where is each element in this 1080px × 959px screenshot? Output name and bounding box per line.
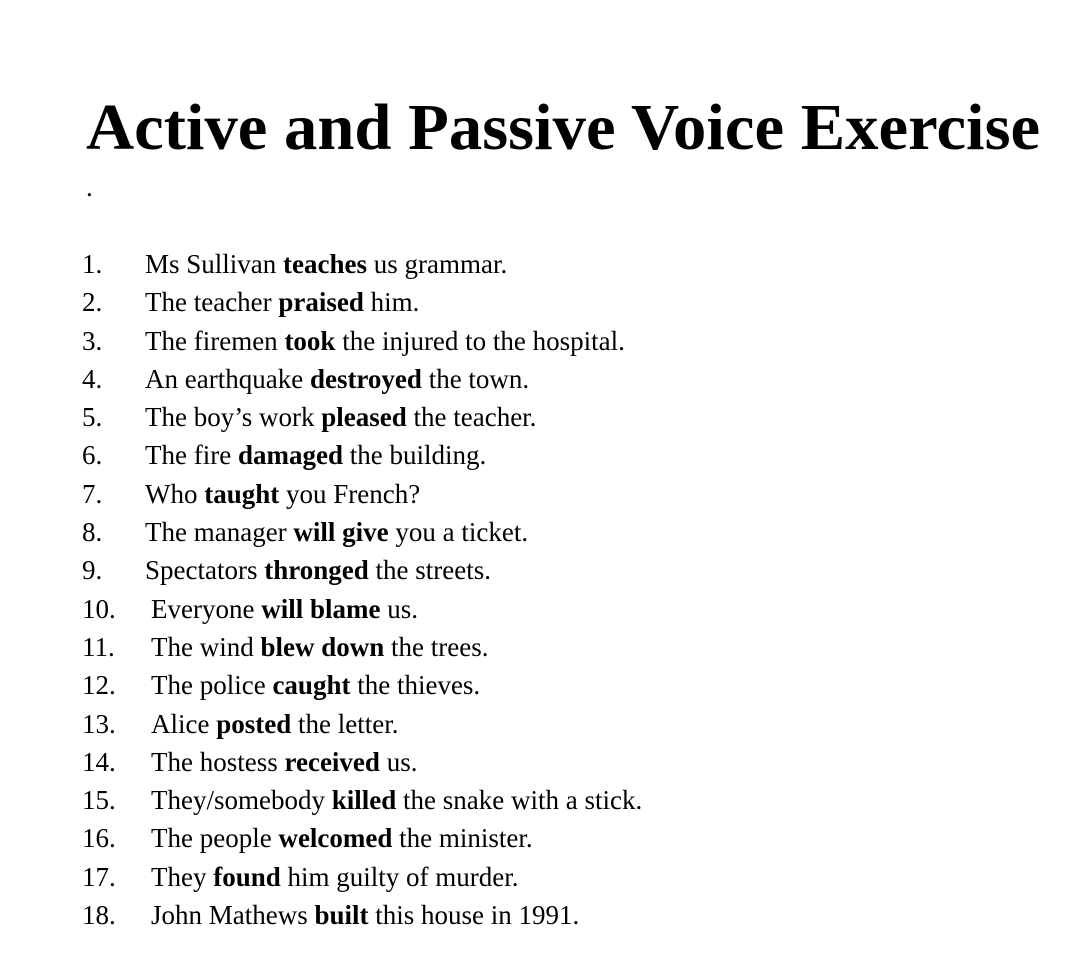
list-item-text: The boy’s work pleased the teacher.	[145, 398, 536, 436]
list-item-number: 10.	[82, 590, 151, 628]
sentence-verb: damaged	[238, 440, 343, 470]
list-item: 13.Alice posted the letter.	[82, 705, 1042, 743]
list-item-number: 8.	[82, 513, 145, 551]
list-item-text: The hostess received us.	[151, 743, 417, 781]
exercise-list: 1.Ms Sullivan teaches us grammar.2.The t…	[82, 245, 1042, 934]
sentence-verb: built	[315, 900, 369, 930]
sentence-verb: taught	[204, 479, 279, 509]
sentence-prefix: The wind	[151, 632, 260, 662]
sentence-suffix: this house in 1991.	[369, 900, 580, 930]
list-item-number: 3.	[82, 322, 145, 360]
list-item-text: They found him guilty of murder.	[151, 858, 519, 896]
list-item-text: The wind blew down the trees.	[151, 628, 488, 666]
list-item-text: The teacher praised him.	[145, 283, 419, 321]
sentence-prefix: The police	[151, 670, 272, 700]
sentence-suffix: us.	[380, 747, 418, 777]
list-item-number: 5.	[82, 398, 145, 436]
sentence-suffix: the thieves.	[350, 670, 480, 700]
sentence-prefix: The people	[151, 823, 278, 853]
sentence-verb: killed	[332, 785, 397, 815]
list-item-text: The police caught the thieves.	[151, 666, 480, 704]
list-item: 12.The police caught the thieves.	[82, 666, 1042, 704]
list-item-text: The manager will give you a ticket.	[145, 513, 528, 551]
sentence-prefix: Who	[145, 479, 204, 509]
sentence-prefix: Spectators	[145, 555, 264, 585]
list-item: 2.The teacher praised him.	[82, 283, 1042, 321]
list-item-text: An earthquake destroyed the town.	[145, 360, 529, 398]
sentence-suffix: the teacher.	[407, 402, 537, 432]
list-item-text: The firemen took the injured to the hosp…	[145, 322, 625, 360]
sentence-verb: welcomed	[278, 823, 392, 853]
list-item: 14.The hostess received us.	[82, 743, 1042, 781]
sentence-verb: caught	[272, 670, 350, 700]
sentence-suffix: us.	[380, 594, 418, 624]
sentence-verb: thronged	[264, 555, 369, 585]
list-item-text: They/somebody killed the snake with a st…	[151, 781, 642, 819]
list-item-text: John Mathews built this house in 1991.	[151, 896, 579, 934]
list-item: 3.The firemen took the injured to the ho…	[82, 322, 1042, 360]
sentence-verb: posted	[216, 709, 291, 739]
list-item-number: 7.	[82, 475, 145, 513]
sentence-suffix: the letter.	[291, 709, 398, 739]
sentence-verb: pleased	[321, 402, 407, 432]
list-item-number: 14.	[82, 743, 151, 781]
list-item-text: Alice posted the letter.	[151, 705, 398, 743]
sentence-prefix: The teacher	[145, 287, 278, 317]
sentence-prefix: The manager	[145, 517, 293, 547]
list-item: 15.They/somebody killed the snake with a…	[82, 781, 1042, 819]
sentence-prefix: They	[151, 862, 213, 892]
list-item-number: 13.	[82, 705, 151, 743]
sentence-suffix: you a ticket.	[389, 517, 528, 547]
list-item: 6.The fire damaged the building.	[82, 436, 1042, 474]
list-item: 4.An earthquake destroyed the town.	[82, 360, 1042, 398]
list-item-number: 16.	[82, 819, 151, 857]
list-item: 7.Who taught you French?	[82, 475, 1042, 513]
sentence-suffix: the streets.	[369, 555, 491, 585]
document-page: Active and Passive Voice Exercise . 1.Ms…	[0, 0, 1080, 959]
sentence-suffix: the building.	[343, 440, 486, 470]
sentence-suffix: him.	[364, 287, 420, 317]
sentence-verb: will blame	[261, 594, 380, 624]
lead-period-mark: .	[86, 168, 93, 206]
sentence-prefix: The firemen	[145, 326, 284, 356]
list-item: 17.They found him guilty of murder.	[82, 858, 1042, 896]
sentence-suffix: the town.	[422, 364, 529, 394]
list-item-text: Everyone will blame us.	[151, 590, 418, 628]
list-item: 9.Spectators thronged the streets.	[82, 551, 1042, 589]
sentence-prefix: The boy’s work	[145, 402, 321, 432]
list-item: 10.Everyone will blame us.	[82, 590, 1042, 628]
list-item-text: Ms Sullivan teaches us grammar.	[145, 245, 507, 283]
list-item-text: Who taught you French?	[145, 475, 420, 513]
list-item-number: 17.	[82, 858, 151, 896]
sentence-suffix: us grammar.	[367, 249, 507, 279]
list-item-number: 15.	[82, 781, 151, 819]
list-item: 8.The manager will give you a ticket.	[82, 513, 1042, 551]
sentence-suffix: the injured to the hospital.	[335, 326, 624, 356]
list-item: 5.The boy’s work pleased the teacher.	[82, 398, 1042, 436]
list-item-number: 6.	[82, 436, 145, 474]
sentence-prefix: John Mathews	[151, 900, 315, 930]
sentence-verb: received	[284, 747, 379, 777]
sentence-prefix: The hostess	[151, 747, 284, 777]
sentence-verb: praised	[278, 287, 364, 317]
list-item-number: 1.	[82, 245, 145, 283]
sentence-prefix: Ms Sullivan	[145, 249, 283, 279]
sentence-suffix: him guilty of murder.	[281, 862, 519, 892]
sentence-verb: blew down	[260, 632, 384, 662]
list-item-number: 2.	[82, 283, 145, 321]
list-item-text: Spectators thronged the streets.	[145, 551, 491, 589]
sentence-prefix: The fire	[145, 440, 238, 470]
list-item-number: 18.	[82, 896, 151, 934]
sentence-suffix: the snake with a stick.	[396, 785, 642, 815]
list-item: 18.John Mathews built this house in 1991…	[82, 896, 1042, 934]
page-title: Active and Passive Voice Exercise	[86, 91, 1056, 165]
list-item: 16.The people welcomed the minister.	[82, 819, 1042, 857]
list-item-text: The fire damaged the building.	[145, 436, 486, 474]
list-item: 11.The wind blew down the trees.	[82, 628, 1042, 666]
list-item: 1.Ms Sullivan teaches us grammar.	[82, 245, 1042, 283]
sentence-verb: took	[284, 326, 335, 356]
sentence-verb: destroyed	[310, 364, 422, 394]
sentence-prefix: Alice	[151, 709, 216, 739]
sentence-suffix: the minister.	[392, 823, 532, 853]
list-item-number: 12.	[82, 666, 151, 704]
sentence-prefix: An earthquake	[145, 364, 310, 394]
list-item-number: 4.	[82, 360, 145, 398]
sentence-suffix: you French?	[279, 479, 420, 509]
list-item-text: The people welcomed the minister.	[151, 819, 533, 857]
list-item-number: 11.	[82, 628, 151, 666]
sentence-prefix: Everyone	[151, 594, 261, 624]
sentence-verb: found	[213, 862, 281, 892]
list-item-number: 9.	[82, 551, 145, 589]
sentence-suffix: the trees.	[384, 632, 488, 662]
sentence-prefix: They/somebody	[151, 785, 332, 815]
sentence-verb: will give	[293, 517, 388, 547]
sentence-verb: teaches	[283, 249, 367, 279]
